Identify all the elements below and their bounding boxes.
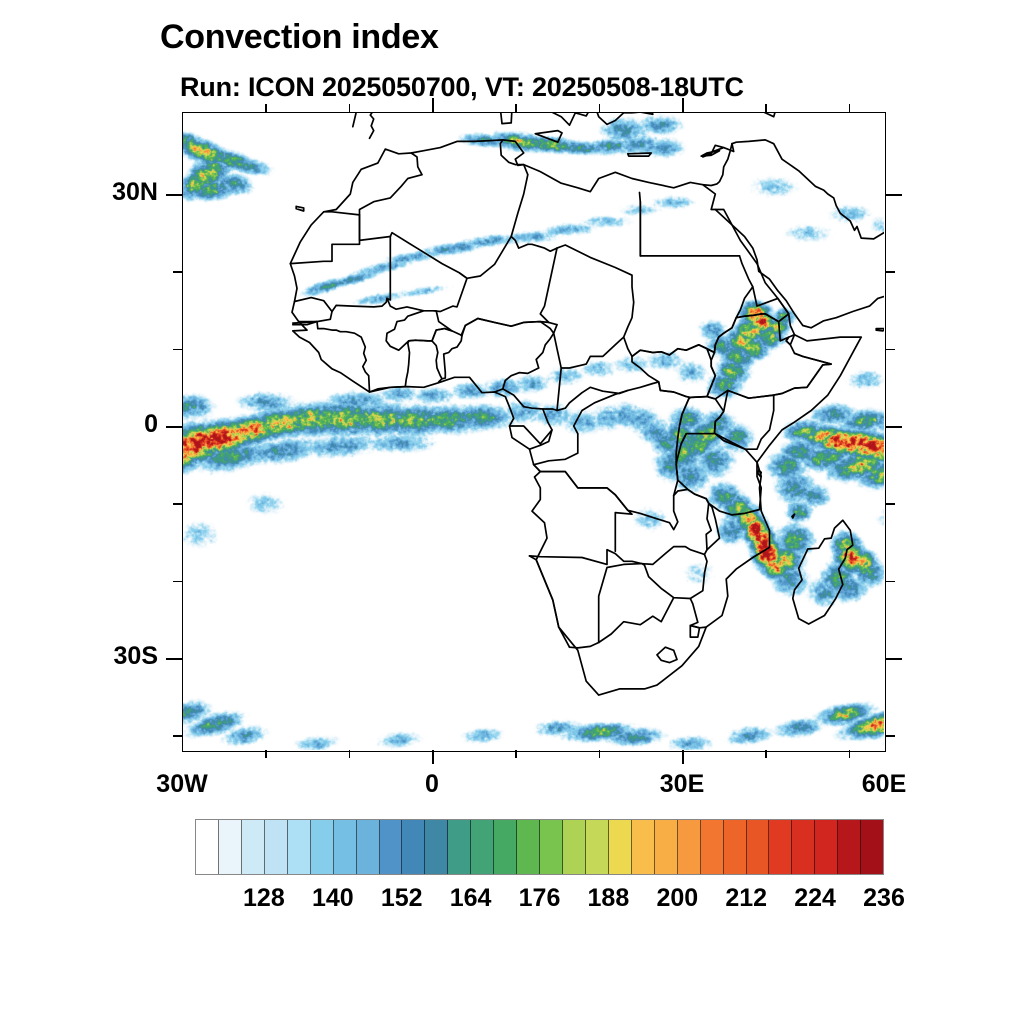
ytick-minor-right--10 (886, 503, 895, 504)
ylabel-0: 0 (0, 410, 158, 439)
colorbar-cell-18 (609, 820, 632, 874)
colorbar-cell-9 (402, 820, 425, 874)
colorbar-cell-5 (311, 820, 334, 874)
border-sa_lesotho (657, 647, 677, 662)
xtick-minor-top-20 (599, 104, 600, 112)
colorbar-label-152: 152 (381, 884, 423, 913)
border-tanzania (676, 434, 761, 515)
colorbar-cell-17 (586, 820, 609, 874)
border-sicily (535, 131, 562, 143)
xtick-major-0 (432, 750, 434, 764)
ytick-major-30N (166, 194, 182, 196)
border-benin_togo (432, 329, 462, 379)
xtick-minor-top-40 (765, 104, 766, 112)
map-borders (182, 112, 884, 750)
colorbar-cell-24 (747, 820, 770, 874)
ytick-minor-right--20 (886, 581, 895, 582)
ytick-minor--20 (173, 581, 182, 582)
border-drc_west (534, 390, 628, 464)
xtick-minor-10 (515, 750, 516, 758)
colorbar-label-212: 212 (725, 884, 767, 913)
border-morocco_algeria (360, 153, 423, 215)
xtick-minor-20 (599, 750, 600, 758)
colorbar-cell-16 (563, 820, 586, 874)
colorbar-cell-10 (425, 820, 448, 874)
border-algeria_libya (511, 175, 557, 252)
colorbar-cell-25 (769, 820, 792, 874)
border-caspian_black (724, 112, 778, 117)
colorbar-cell-14 (517, 820, 540, 874)
ytick-minor-right--40 (886, 735, 895, 736)
border-europe_south (353, 112, 594, 127)
colorbar-cell-8 (380, 820, 403, 874)
border-car_chad_north (557, 337, 624, 410)
colorbar-cell-12 (471, 820, 494, 874)
border-mali_algeria (390, 233, 511, 279)
ytick-minor-right-10 (886, 349, 895, 350)
colorbar-cell-6 (334, 820, 357, 874)
colorbar-cell-15 (540, 820, 563, 874)
colorbar[interactable] (195, 819, 884, 875)
xtick-major-top-30E (682, 98, 684, 112)
xtick-minor-top--20 (265, 104, 266, 112)
xtick-minor-40 (765, 750, 766, 758)
xtick-minor--20 (265, 750, 266, 758)
border-africa_coast (290, 140, 861, 695)
xlabel-30W: 30W (156, 770, 207, 799)
border-botswana_sa (599, 598, 674, 643)
colorbar-cell-23 (724, 820, 747, 874)
border-chad_niger (540, 248, 557, 325)
border-senegal (295, 298, 333, 322)
xlabel-30E: 30E (660, 770, 704, 799)
border-eritrea (736, 287, 789, 322)
ytick-major-right-30N (886, 194, 902, 196)
colorbar-cell-13 (494, 820, 517, 874)
xtick-minor-top--10 (349, 104, 350, 112)
ylabel-30S: 30S (0, 642, 158, 671)
ytick-major-0 (166, 426, 182, 428)
colorbar-cell-11 (448, 820, 471, 874)
xlabel-60E: 60E (862, 770, 906, 799)
xtick-major-30E (682, 750, 684, 764)
xlabel-0: 0 (425, 770, 439, 799)
colorbar-label-200: 200 (656, 884, 698, 913)
border-zambia_zim (642, 489, 711, 564)
colorbar-cell-4 (288, 820, 311, 874)
border-niger_nigeria (462, 319, 549, 336)
border-crete (628, 153, 651, 156)
colorbar-label-224: 224 (794, 884, 836, 913)
colorbar-cell-2 (242, 820, 265, 874)
border-namibia_bots (599, 564, 642, 643)
colorbar-cell-26 (792, 820, 815, 874)
border-wsahara_mauritania (290, 212, 359, 264)
border-gambia (293, 322, 317, 325)
border-canary (296, 206, 304, 211)
colorbar-label-128: 128 (243, 884, 285, 913)
page-title: Convection index (160, 18, 439, 57)
border-socotra (876, 329, 884, 331)
ytick-minor--40 (173, 735, 182, 736)
ylabel-30N: 30N (0, 178, 158, 207)
ytick-major-right-30S (886, 658, 902, 660)
colorbar-cell-1 (219, 820, 242, 874)
ytick-minor-20 (173, 271, 182, 272)
ytick-major-30S (166, 658, 182, 660)
border-maghreb_tunisia (500, 140, 528, 175)
colorbar-cell-21 (678, 820, 701, 874)
border-sardinia (500, 112, 512, 124)
border-angola_north (540, 472, 632, 552)
colorbar-cell-19 (632, 820, 655, 874)
ytick-major-right-0 (886, 426, 902, 428)
border-libya_egypt (640, 193, 641, 256)
colorbar-label-236: 236 (863, 884, 905, 913)
colorbar-label-188: 188 (588, 884, 630, 913)
colorbar-cell-29 (861, 820, 883, 874)
colorbar-label-164: 164 (450, 884, 492, 913)
border-iberia_inner (357, 112, 380, 138)
ytick-minor-10 (173, 349, 182, 350)
colorbar-cell-7 (357, 820, 380, 874)
border-djibouti (786, 335, 794, 345)
border-moz_sa (690, 599, 706, 628)
xtick-minor--10 (349, 750, 350, 758)
colorbar-label-140: 140 (312, 884, 354, 913)
xtick-minor-50 (849, 750, 850, 758)
border-cameroon_car (503, 382, 691, 411)
colorbar-cell-28 (838, 820, 861, 874)
border-niger_mali (434, 273, 467, 312)
xtick-minor-top-50 (849, 104, 850, 112)
colorbar-cell-27 (815, 820, 838, 874)
colorbar-cell-22 (701, 820, 724, 874)
colorbar-cell-3 (265, 820, 288, 874)
xtick-major-top-0 (432, 98, 434, 112)
ytick-minor-right-20 (886, 271, 895, 272)
border-south_sudan (632, 345, 715, 398)
map-plot-area (182, 112, 884, 750)
colorbar-cell-20 (655, 820, 678, 874)
border-uganda (680, 397, 724, 444)
border-madagascar (793, 520, 853, 624)
border-nigeria (461, 319, 554, 393)
border-italy_balkans (594, 112, 724, 124)
border-mauritania_algeria (360, 215, 391, 241)
colorbar-cell-0 (196, 820, 219, 874)
border-guinea_group (317, 322, 370, 392)
border-zim_moz (642, 554, 707, 598)
ytick-minor--10 (173, 503, 182, 504)
colorbar-label-176: 176 (519, 884, 561, 913)
border-mauritania_mali (332, 237, 390, 312)
border-chad_cameroon (554, 325, 562, 368)
chart-subtitle: Run: ICON 2025050700, VT: 20250508-18UTC (180, 72, 744, 103)
border-burkina (386, 298, 452, 350)
border-somalia_border (774, 353, 832, 395)
border-libya_chad_sudan (557, 245, 753, 356)
border-comoros (792, 514, 795, 518)
border-angola_zambia (530, 550, 643, 565)
border-arabia_north (732, 140, 884, 239)
xtick-minor-top-10 (515, 104, 516, 112)
border-drc_congo (534, 397, 691, 529)
figure-root: Convection index Run: ICON 2025050700, V… (0, 0, 1024, 1024)
